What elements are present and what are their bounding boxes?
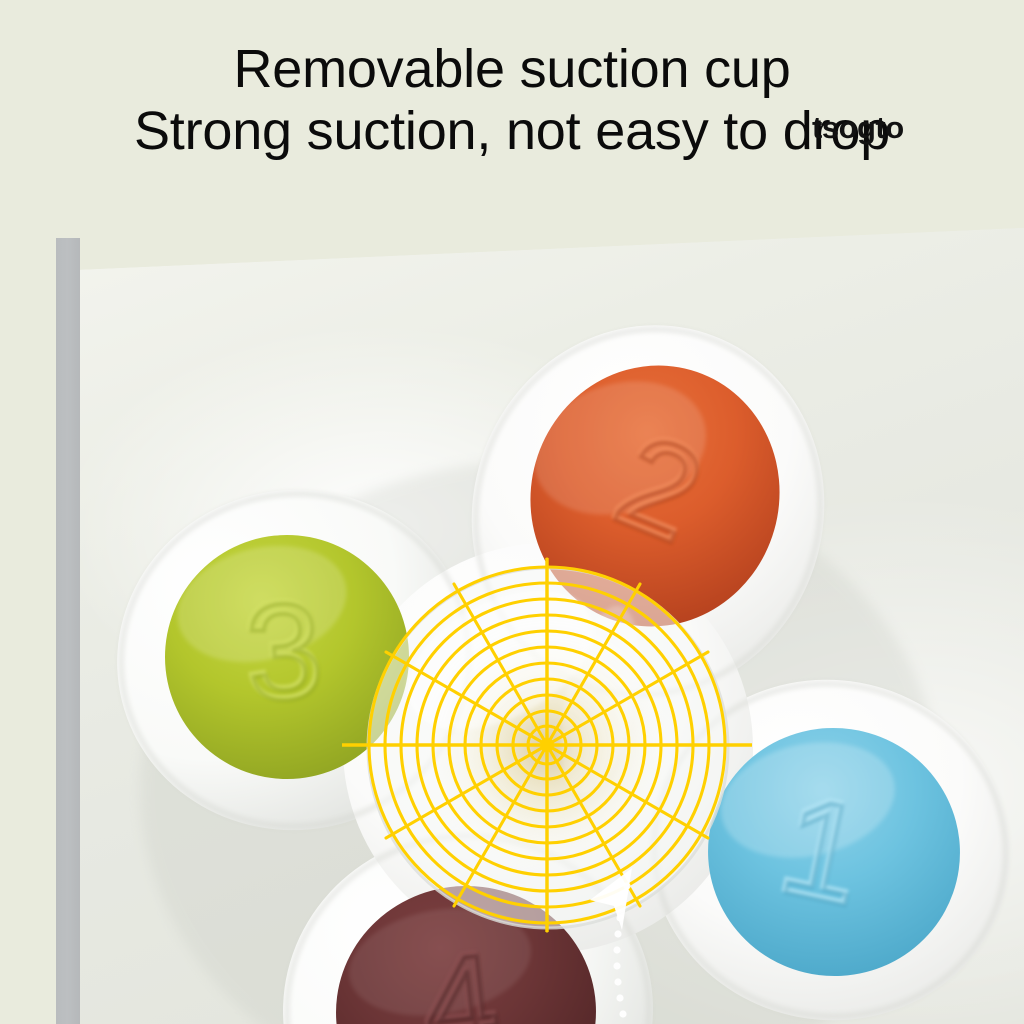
product-image-stage: 2 2 3 3 1 1 — [0, 0, 1024, 1024]
petal-3-number: 3 3 — [239, 570, 327, 730]
petal-3-digit-shadow: 3 — [241, 573, 327, 730]
seller-watermark: tsogto — [812, 112, 904, 143]
spinner-toy-illustration: 2 2 3 3 1 1 — [0, 0, 1024, 1024]
